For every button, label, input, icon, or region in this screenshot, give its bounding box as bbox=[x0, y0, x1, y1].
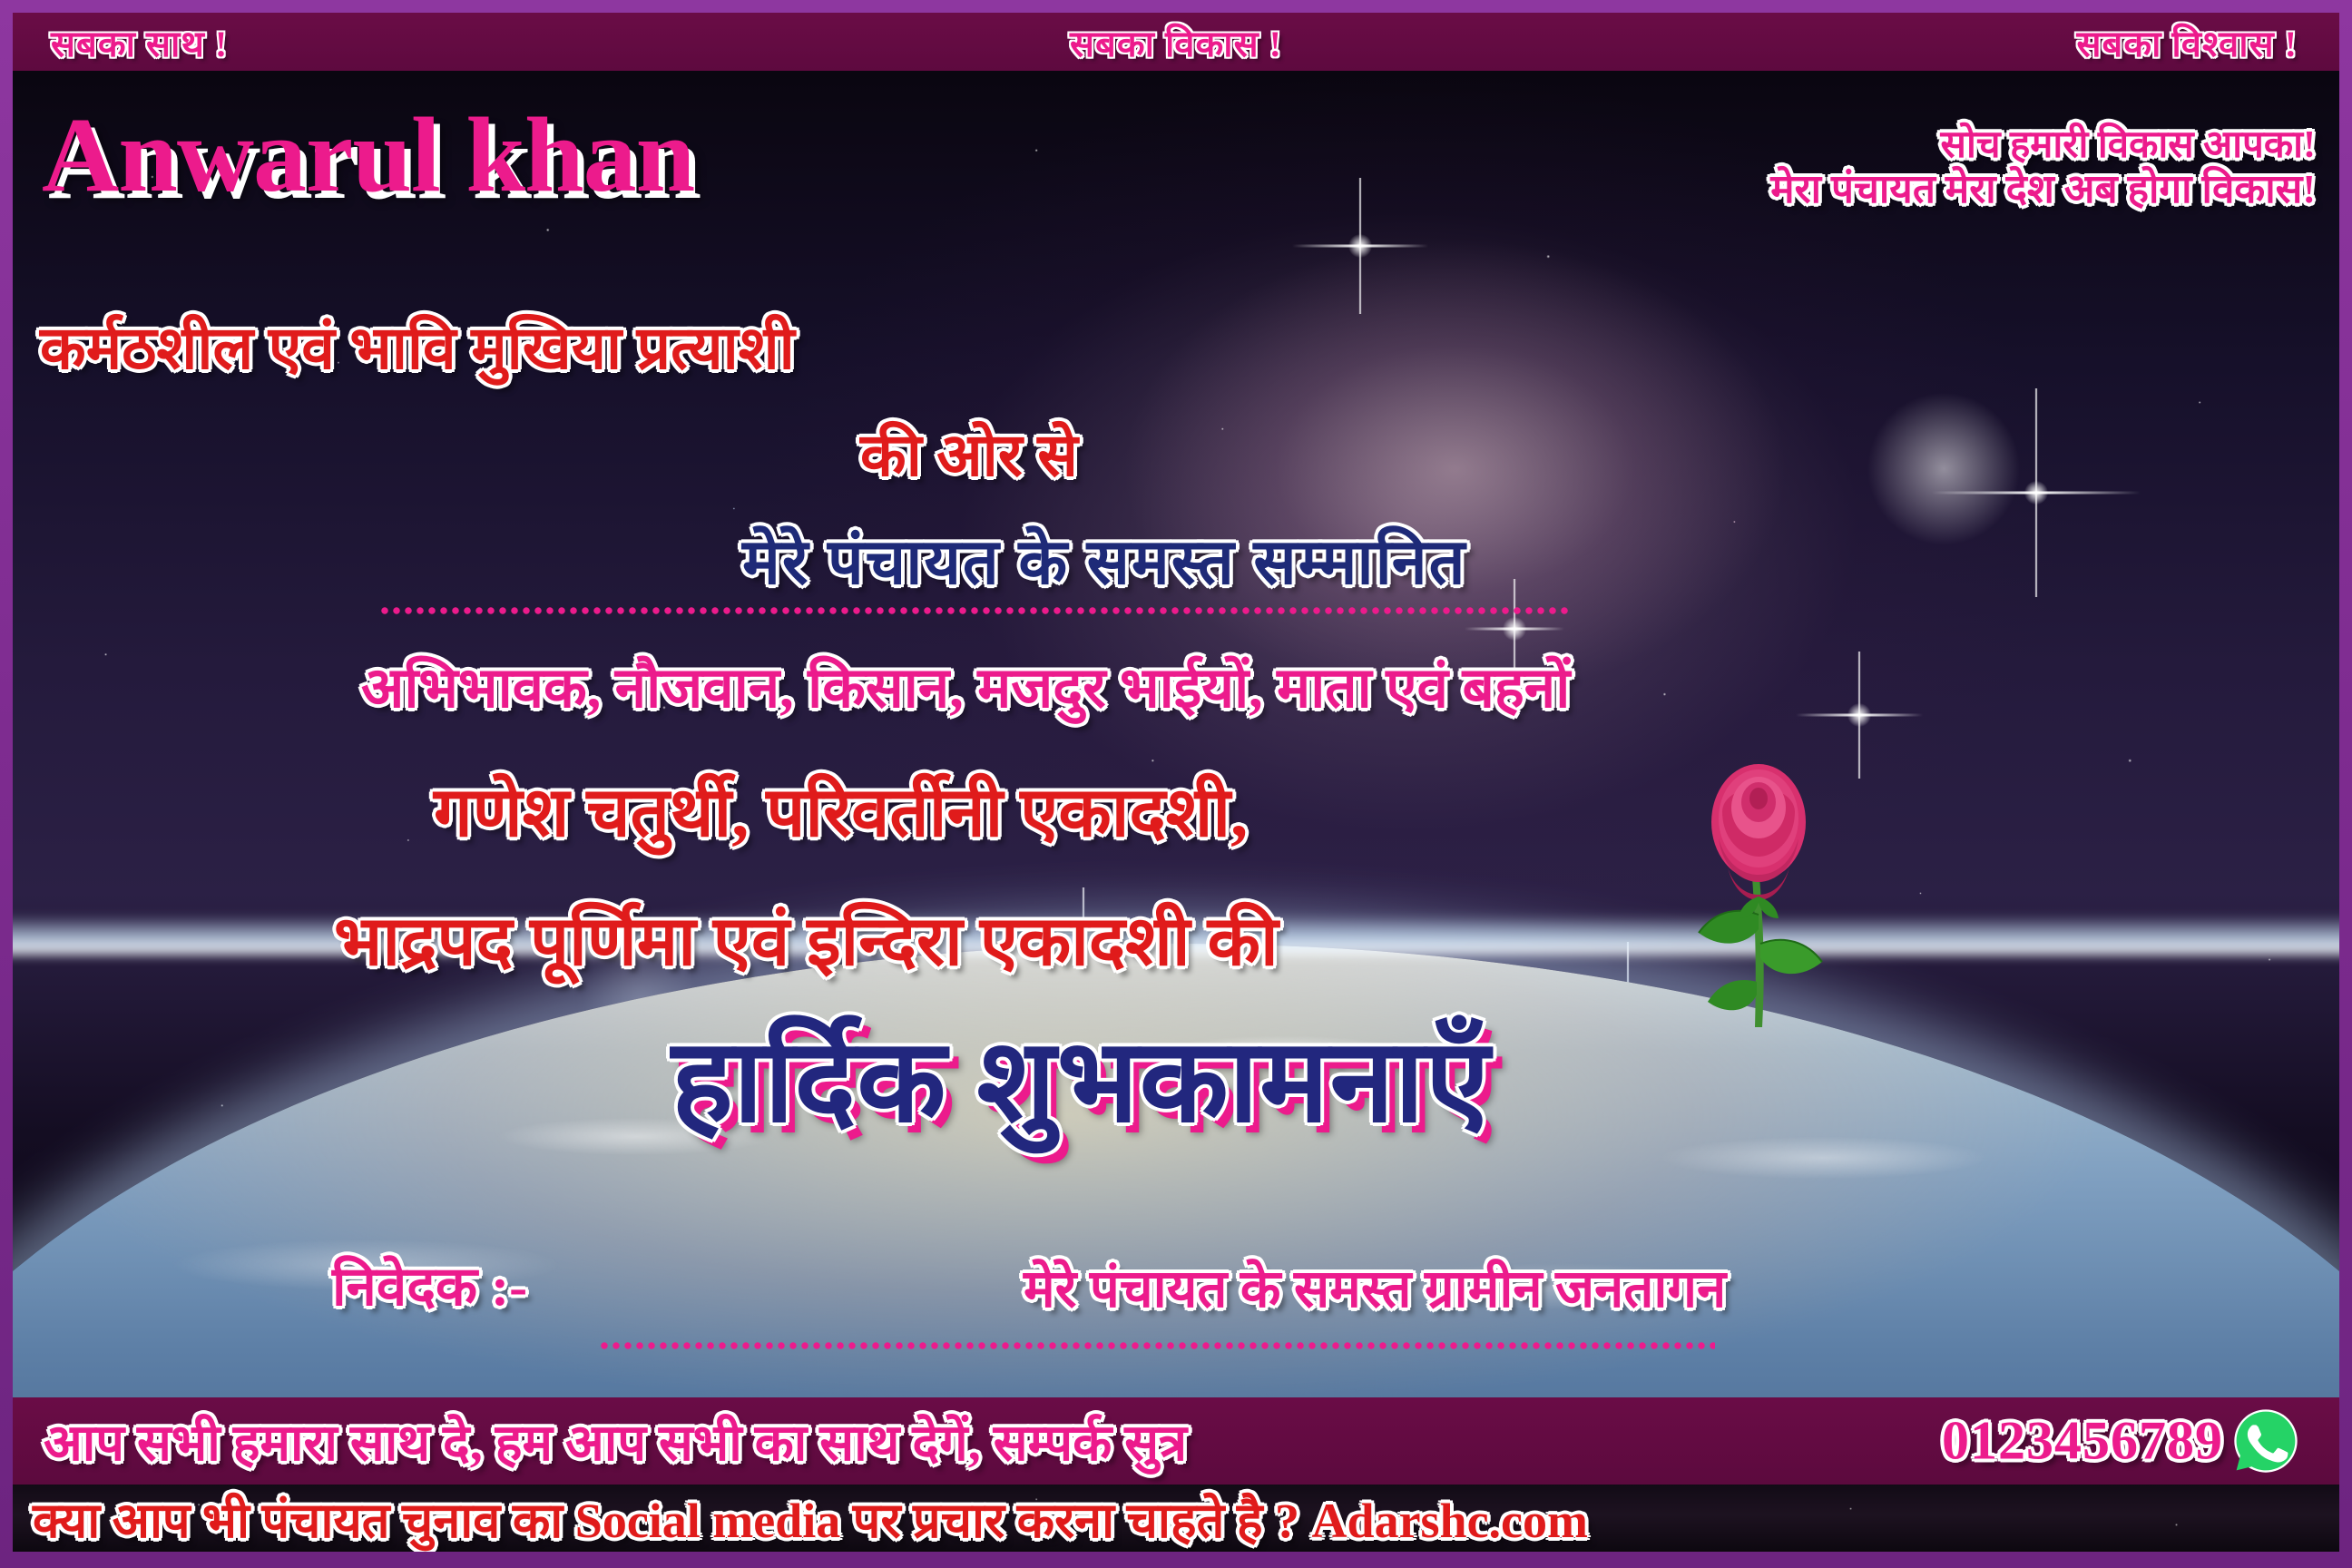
candidate-subtitle-line-1: कर्मठशील एवं भावि मुखिया प्रत्याशी bbox=[40, 319, 795, 379]
tagline-block: सोच हमारी विकास आपका! मेरा पंचायत मेरा द… bbox=[1770, 125, 2316, 211]
footer-contact-band: आप सभी हमारा साथ दे, हम आप सभी का साथ दे… bbox=[13, 1397, 2339, 1485]
tagline-line-2: मेरा पंचायत मेरा देश अब होगा विकास! bbox=[1770, 169, 2316, 211]
footer-support-text: आप सभी हमारा साथ दे, हम आप सभी का साथ दे… bbox=[44, 1406, 1187, 1475]
promo-prefix: क्या आप भी पंचायत चुनाव का bbox=[33, 1494, 575, 1548]
body-line-3-festivals: गणेश चतुर्थी, परिवर्तीनी एकादशी, bbox=[434, 779, 1248, 848]
greeting-poster: सबका साथ ! सबका विकास ! सबका विश्वास ! A… bbox=[0, 0, 2352, 1568]
dotted-divider bbox=[379, 606, 1568, 615]
space-background-image bbox=[13, 71, 2339, 1397]
slogan-sabka-saath: सबका साथ ! bbox=[51, 17, 228, 67]
dotted-divider bbox=[599, 1341, 1715, 1350]
whatsapp-icon[interactable] bbox=[2232, 1407, 2299, 1475]
promo-highlight: Social media bbox=[575, 1494, 841, 1548]
footer-promo-text: क्या आप भी पंचायत चुनाव का Social media … bbox=[33, 1485, 1588, 1552]
candidate-subtitle-line-2: की ओर से bbox=[860, 426, 1078, 486]
tagline-line-1: सोच हमारी विकास आपका! bbox=[1770, 125, 2316, 165]
body-line-2: अभिभावक, नौजवान, किसान, मजदुर भाईयों, मा… bbox=[361, 661, 1570, 717]
greeting-headline: हार्दिक शुभकामनाएँ bbox=[671, 1024, 1491, 1140]
promo-middle: पर प्रचार करना चाहते है ? bbox=[840, 1494, 1311, 1548]
body-line-4-festivals: भाद्रपद पूर्णिमा एवं इन्दिरा एकादशी की bbox=[334, 907, 1279, 976]
slogan-sabka-vikas: सबका विकास ! bbox=[1070, 17, 1282, 67]
requester-label: निवेदक :- bbox=[332, 1259, 527, 1314]
footer-promo-strip: क्या आप भी पंचायत चुनाव का Social media … bbox=[13, 1485, 2339, 1552]
top-slogan-band: सबका साथ ! सबका विकास ! सबका विश्वास ! bbox=[13, 13, 2339, 71]
promo-website[interactable]: Adarshc.com bbox=[1312, 1494, 1588, 1548]
slogan-sabka-vishwas: सबका विश्वास ! bbox=[2076, 17, 2298, 67]
requester-value: मेरे पंचायत के समस्त ग्रामीन जनतागन bbox=[1024, 1263, 1726, 1316]
contact-phone-number[interactable]: 0123456789 bbox=[1942, 1410, 2223, 1473]
candidate-name: Anwarul khan bbox=[42, 102, 694, 209]
rose-flower-icon bbox=[1668, 755, 1849, 1045]
body-line-1: मेरे पंचायत के समस्त सम्मानित bbox=[742, 532, 1467, 595]
